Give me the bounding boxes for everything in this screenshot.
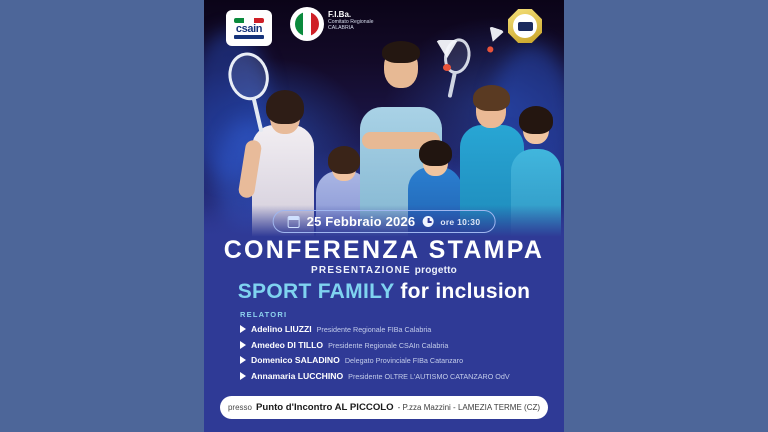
gold-badge-emblem: [518, 22, 533, 31]
project-title-highlight: SPORT FAMILY: [238, 280, 394, 303]
triangle-bullet-icon: [240, 372, 246, 380]
subtitle: PRESENTAZIONE progetto: [204, 265, 564, 276]
list-item: Amedeo DI TILLO Presidente Regionale CSA…: [240, 340, 540, 350]
badminton-racket: [224, 49, 281, 134]
fiba-logo-text: F.I.Ba. Comitato Regionale CALABRIA: [328, 11, 374, 32]
subtitle-caps: PRESENTAZIONE: [311, 265, 411, 276]
gold-badge-inner: [513, 14, 537, 38]
speakers-section: RELATORI Adelino LIUZZI Presidente Regio…: [240, 310, 540, 386]
speaker-name: Adelino LIUZZI: [251, 324, 312, 334]
speaker-name: Domenico SALADINO: [251, 355, 340, 365]
venue-prefix: presso: [228, 403, 252, 412]
gold-badge-logo: [508, 9, 542, 43]
hair: [519, 106, 553, 134]
italian-flag-icon: [295, 12, 319, 36]
speakers-label: RELATORI: [240, 310, 540, 319]
list-item: Domenico SALADINO Delegato Provinciale F…: [240, 355, 540, 365]
speaker-role: Delegato Provinciale FIBa Catanzaro: [345, 356, 463, 365]
page-title: CONFERENZA STAMPA: [204, 236, 564, 265]
venue-name: Punto d'Incontro AL PICCOLO: [256, 402, 394, 413]
project-title-rest: for inclusion: [400, 280, 530, 303]
calendar-icon: [288, 216, 300, 228]
venue-banner: presso Punto d'Incontro AL PICCOLO - P.z…: [220, 396, 548, 419]
csain-wordmark: csain: [236, 24, 262, 34]
triangle-bullet-icon: [240, 325, 246, 333]
speaker-role: Presidente Regionale CSAIn Calabria: [328, 341, 448, 350]
italian-flag-icon: [234, 18, 264, 23]
speaker-name: Annamaria LUCCHINO: [251, 371, 343, 381]
logo-bar: csain F.I.Ba. Comitato Regionale CALABRI…: [204, 7, 564, 49]
csain-logo: csain: [226, 10, 272, 46]
event-poster: csain F.I.Ba. Comitato Regionale CALABRI…: [204, 0, 564, 432]
hair: [473, 85, 510, 111]
speaker-role: Presidente Regionale FIBa Calabria: [317, 325, 432, 334]
subtitle-word: progetto: [415, 265, 457, 276]
csain-underline: [234, 35, 264, 39]
fiba-subtitle-line2: CALABRIA: [328, 26, 374, 32]
list-item: Adelino LIUZZI Presidente Regionale FIBa…: [240, 324, 540, 334]
triangle-bullet-icon: [240, 356, 246, 364]
fiba-logo: [290, 7, 324, 41]
poster-content: 25 Febbraio 2026 ore 10:30 CONFERENZA ST…: [204, 205, 564, 432]
project-title: SPORT FAMILY for inclusion: [204, 280, 564, 304]
event-time: ore 10:30: [440, 217, 480, 227]
event-date: 25 Febbraio 2026: [307, 214, 416, 229]
speaker-name: Amedeo DI TILLO: [251, 340, 323, 350]
venue-address: - P.zza Mazzini - LAMEZIA TERME (CZ): [398, 403, 540, 412]
list-item: Annamaria LUCCHINO Presidente OLTRE L'AU…: [240, 371, 540, 381]
date-time-pill: 25 Febbraio 2026 ore 10:30: [273, 210, 496, 233]
triangle-bullet-icon: [240, 341, 246, 349]
hair: [419, 140, 452, 166]
clock-icon: [422, 216, 433, 227]
speaker-role: Presidente OLTRE L'AUTISMO CATANZARO OdV: [348, 372, 510, 381]
